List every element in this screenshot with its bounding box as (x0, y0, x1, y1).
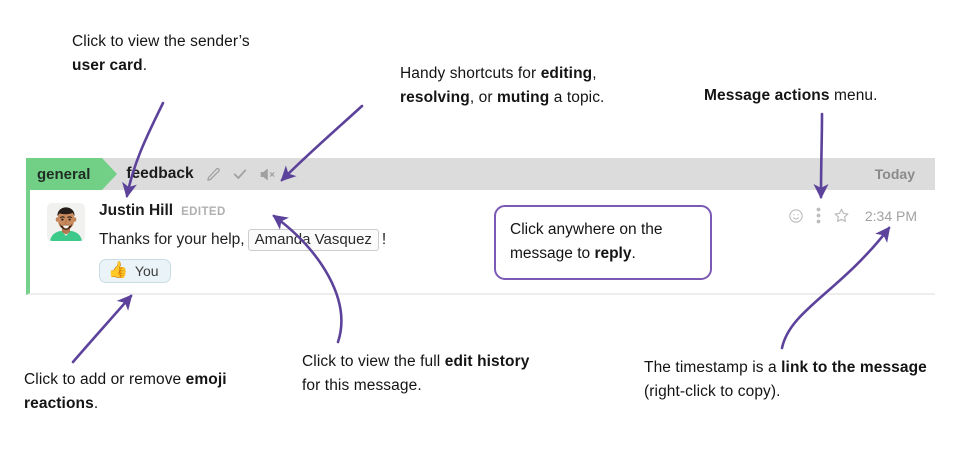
avatar[interactable] (47, 203, 85, 241)
thumbs-up-icon: 👍 (108, 263, 128, 279)
message-timestamp[interactable]: 2:34 PM (865, 208, 917, 224)
annotation-user-card-line1: Click to view the sender’s (72, 33, 250, 50)
annotation-shortcuts-mid2: , or (470, 89, 497, 106)
annotation-message-actions-tail: menu. (830, 87, 878, 104)
annotation-message-actions: Message actions menu. (704, 84, 954, 108)
annotation-shortcuts-muting: muting (497, 89, 549, 106)
annotation-edit-history-pre: Click to view the full (302, 353, 445, 370)
annotation-edit-history: Click to view the full edit history for … (302, 350, 532, 398)
annotation-shortcuts-pre: Handy shortcuts for (400, 65, 541, 82)
annotation-reactions-tail: . (94, 395, 98, 412)
annotation-shortcuts-resolving: resolving (400, 89, 470, 106)
annotation-shortcuts-mid1: , (592, 65, 596, 82)
annotation-reactions-pre: Click to add or remove (24, 371, 186, 388)
topic-name-label[interactable]: feedback (126, 165, 193, 183)
message-panel: general feedback Today (26, 158, 935, 295)
arrow-emoji-reactions (73, 296, 131, 362)
callout-reply-pre: Click anywhere on the message to (510, 221, 663, 262)
annotation-user-card: Click to view the sender’s user card. (72, 30, 352, 78)
reaction-pill-thumbsup[interactable]: 👍 You (99, 259, 171, 283)
annotation-shortcuts-editing: editing (541, 65, 593, 82)
date-separator-label: Today (875, 166, 915, 182)
annotation-timestamp-tail: (right-click to copy). (644, 383, 781, 400)
callout-reply-tail: . (632, 245, 636, 262)
callout-click-to-reply: Click anywhere on the message to reply. (494, 205, 712, 280)
callout-reply-bold: reply (594, 245, 631, 262)
check-icon[interactable] (232, 166, 248, 182)
stream-name-label: general (37, 166, 90, 183)
annotation-emoji-reactions: Click to add or remove emoji reactions. (24, 368, 284, 416)
annotation-user-card-tail: . (143, 57, 147, 74)
message-text-before-mention: Thanks for your help, (99, 231, 245, 249)
annotation-topic-shortcuts: Handy shortcuts for editing, resolving, … (400, 62, 650, 110)
star-icon[interactable] (833, 207, 850, 224)
stream-badge[interactable]: general (26, 158, 102, 190)
annotation-user-card-bold: user card (72, 57, 143, 74)
pencil-icon[interactable] (206, 167, 221, 182)
message-text-after-mention: ! (382, 231, 386, 249)
annotation-timestamp-bold: link to the message (781, 359, 927, 376)
edited-badge[interactable]: EDITED (181, 206, 226, 218)
mute-icon[interactable] (259, 167, 277, 182)
annotation-shortcuts-tail: a topic. (549, 89, 604, 106)
message-actions-icon[interactable] (816, 207, 821, 224)
annotation-edit-history-bold: edit history (445, 353, 530, 370)
annotation-message-actions-bold: Message actions (704, 87, 830, 104)
annotation-timestamp-link: The timestamp is a link to the message (… (644, 356, 944, 404)
emoji-reaction-icon[interactable] (788, 208, 804, 224)
sender-name[interactable]: Justin Hill (99, 202, 173, 220)
topic-action-icons (206, 166, 277, 182)
reaction-count-label: You (135, 263, 159, 279)
message-row[interactable]: Justin Hill EDITED Thanks for your help,… (26, 190, 935, 295)
annotation-edit-history-tail: for this message. (302, 377, 422, 394)
message-controls: 2:34 PM (788, 207, 917, 224)
topic-bar: general feedback Today (26, 158, 935, 190)
mention-pill[interactable]: Amanda Vasquez (248, 229, 379, 251)
annotation-timestamp-pre: The timestamp is a (644, 359, 781, 376)
